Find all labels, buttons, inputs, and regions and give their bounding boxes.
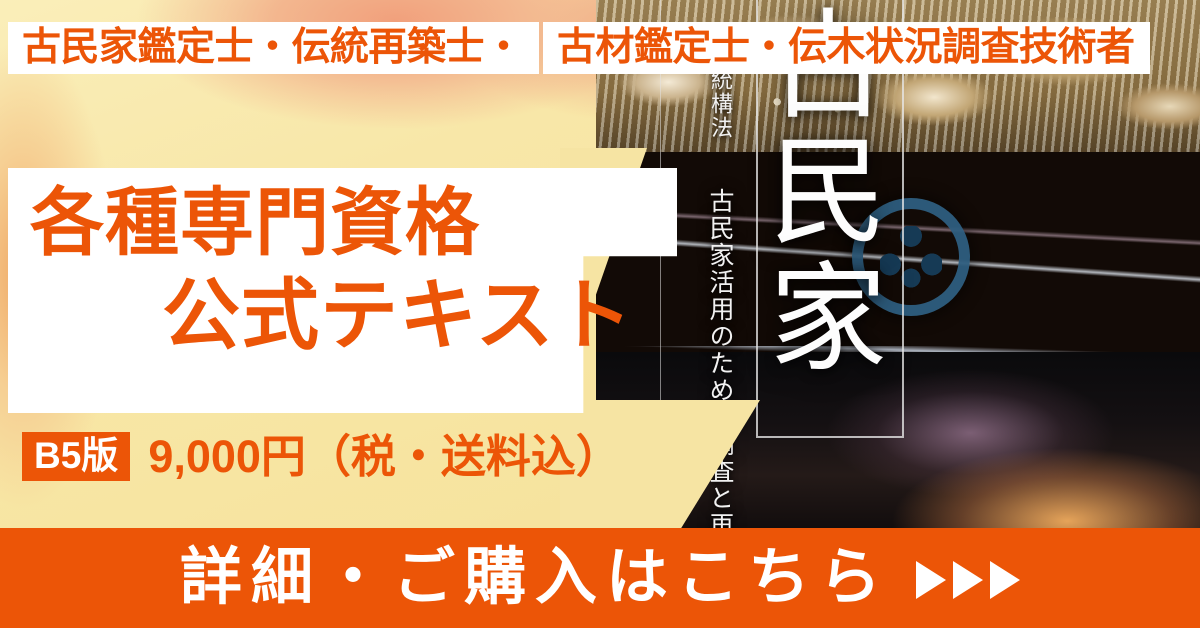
cta-arrow-group [916, 561, 1020, 599]
qualifications-line-2: 古材鑑定士・伝木状況調査技術者 [557, 22, 1135, 74]
cta-label: 詳細・ご購入はこちら [180, 547, 890, 609]
headline-line-2: 公式テキスト [162, 276, 634, 354]
cover-title-char-2: 民 [769, 132, 887, 252]
price-amount: 9,000円（税・送料込） [148, 434, 621, 479]
triangle-right-icon [916, 561, 946, 599]
headline-panel: 各種専門資格 公式テキスト [8, 168, 677, 413]
triangle-right-icon [953, 561, 983, 599]
cover-title-char-3: 家 [769, 259, 887, 379]
triangle-right-icon [990, 561, 1020, 599]
cta-bar[interactable]: 詳細・ご購入はこちら [0, 528, 1200, 628]
qualifications-row-1: 古民家鑑定士・伝統再築士・ [8, 22, 539, 74]
qualifications-panel: 古民家鑑定士・伝統再築士・ 古材鑑定士・伝木状況調査技術者 [8, 22, 1150, 74]
qualifications-line-1: 古民家鑑定士・伝統再築士・ [22, 22, 523, 74]
headline-line-1: 各種専門資格 [30, 186, 480, 260]
format-badge: B5版 [22, 432, 130, 481]
qualifications-row-2: 古材鑑定士・伝木状況調査技術者 [543, 22, 1151, 74]
price-row: B5版 9,000円（税・送料込） [22, 432, 621, 481]
promo-banner: 古 民 家 伝統構法 古民家活用のための調査と再生の 古民家鑑定士・伝統再築士・… [0, 0, 1200, 628]
